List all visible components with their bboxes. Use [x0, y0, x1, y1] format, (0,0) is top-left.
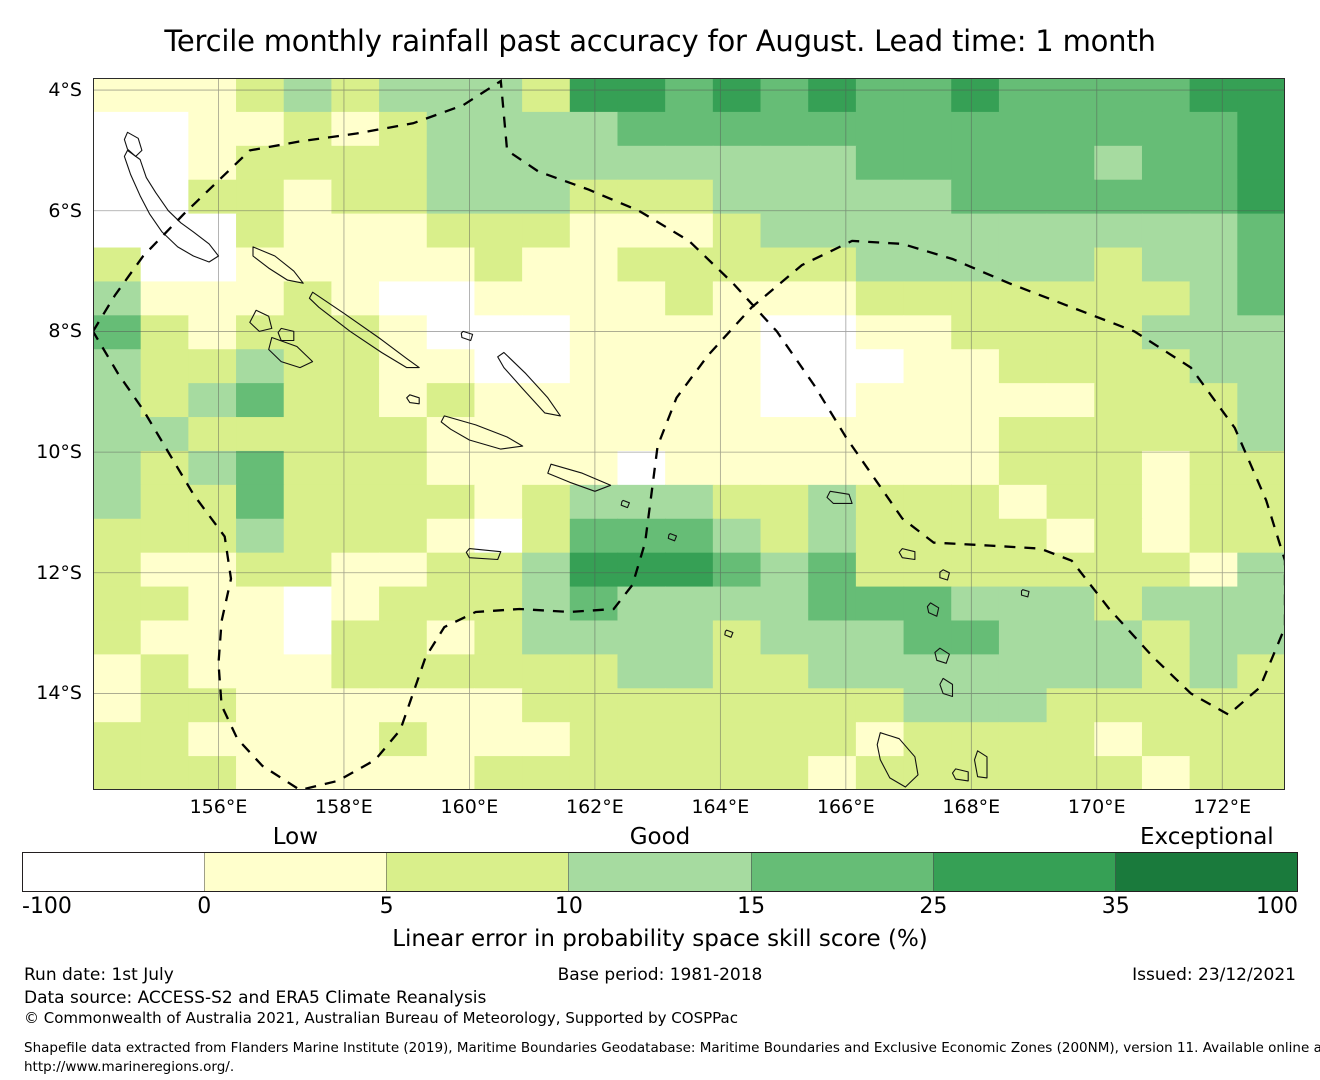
- heatmap-cell: [761, 214, 809, 249]
- x-tick-label: 168°E: [901, 796, 1041, 818]
- heatmap-cell: [665, 722, 713, 757]
- heatmap-cell: [141, 281, 189, 316]
- heatmap-cell: [284, 383, 332, 418]
- x-tick-label: 162°E: [525, 796, 665, 818]
- heatmap-cell: [904, 349, 952, 384]
- heatmap-cell: [522, 214, 570, 249]
- heatmap-cell: [1237, 112, 1285, 146]
- heatmap-cell: [617, 248, 665, 283]
- heatmap-cell: [856, 180, 904, 215]
- heatmap-cell: [761, 112, 809, 146]
- heatmap-cell: [188, 383, 236, 418]
- x-tick-label: 156°E: [148, 796, 288, 818]
- heatmap-cell: [856, 451, 904, 486]
- heatmap-cell: [665, 180, 713, 215]
- colorbar-segment: [1115, 853, 1297, 891]
- heatmap-cell: [474, 587, 522, 622]
- heatmap-cell: [1094, 112, 1142, 146]
- heatmap-cell: [1047, 620, 1095, 655]
- heatmap-cell: [236, 349, 284, 384]
- heatmap-cell: [1142, 315, 1190, 350]
- heatmap-cell: [474, 485, 522, 520]
- heatmap-cell: [1094, 349, 1142, 384]
- heatmap-cell: [236, 146, 284, 181]
- heatmap-cell: [665, 587, 713, 622]
- heatmap-cell: [284, 587, 332, 622]
- heatmap-cell: [522, 281, 570, 316]
- heatmap-cell: [1190, 587, 1238, 622]
- heatmap-cell: [427, 112, 475, 146]
- heatmap-cell: [665, 78, 713, 113]
- heatmap-cell: [331, 722, 379, 757]
- heatmap-cell: [1237, 180, 1285, 215]
- heatmap-cell: [236, 722, 284, 757]
- heatmap-cell: [617, 349, 665, 384]
- heatmap-cell: [427, 180, 475, 215]
- heatmap-cell: [808, 78, 856, 113]
- heatmap-cell: [761, 180, 809, 215]
- heatmap-cell: [1094, 654, 1142, 689]
- heatmap-cell: [474, 349, 522, 384]
- heatmap-cell: [284, 722, 332, 757]
- heatmap-cell: [284, 349, 332, 384]
- heatmap-cell: [665, 451, 713, 486]
- heatmap-cell: [570, 620, 618, 655]
- colorbar-tick-label: 15: [737, 894, 765, 919]
- heatmap-cell: [761, 417, 809, 452]
- colorbar: LowGoodExceptional -1000510152535100 Lin…: [0, 824, 1320, 954]
- heatmap-cell: [93, 315, 141, 350]
- heatmap-cell: [904, 417, 952, 452]
- heatmap-cell: [808, 519, 856, 554]
- heatmap-cell: [1190, 722, 1238, 757]
- heatmap-cell: [331, 485, 379, 520]
- heatmap-cell: [1094, 383, 1142, 418]
- heatmap-cell: [808, 451, 856, 486]
- heatmap-cell: [1142, 214, 1190, 249]
- heatmap-cell: [427, 78, 475, 113]
- y-tick-label: 12°S: [0, 562, 82, 584]
- heatmap-cell: [331, 248, 379, 283]
- heatmap-cell: [570, 78, 618, 113]
- heatmap-cell: [1047, 553, 1095, 588]
- heatmap-cell: [1047, 146, 1095, 181]
- heatmap-cell: [999, 756, 1047, 790]
- colorbar-segment: [568, 853, 750, 891]
- heatmap-cell: [951, 315, 999, 350]
- heatmap-cell: [379, 587, 427, 622]
- heatmap-cell: [1094, 587, 1142, 622]
- heatmap-cell: [427, 146, 475, 181]
- colorbar-gradient-strip: [22, 852, 1298, 892]
- heatmap-cell: [236, 553, 284, 588]
- heatmap-cell: [188, 349, 236, 384]
- colorbar-segment: [204, 853, 386, 891]
- colorbar-tick-label: 100: [1256, 894, 1298, 919]
- heatmap-cell: [236, 485, 284, 520]
- heatmap-cell: [904, 756, 952, 790]
- heatmap-cell: [188, 146, 236, 181]
- heatmap-cell: [999, 722, 1047, 757]
- heatmap-cell: [570, 349, 618, 384]
- heatmap-cell: [951, 654, 999, 689]
- heatmap-cell: [236, 180, 284, 215]
- heatmap-cell: [188, 587, 236, 622]
- heatmap-cell: [1142, 78, 1190, 113]
- heatmap-cell: [999, 654, 1047, 689]
- heatmap-cell: [1237, 146, 1285, 181]
- heatmap-cell: [379, 349, 427, 384]
- heatmap-cell: [951, 722, 999, 757]
- heatmap-cell: [522, 315, 570, 350]
- heatmap-cell: [284, 248, 332, 283]
- heatmap-cell: [1142, 383, 1190, 418]
- heatmap-cell: [856, 722, 904, 757]
- heatmap-cell: [808, 383, 856, 418]
- heatmap-cell: [474, 146, 522, 181]
- heatmap-cell: [570, 112, 618, 146]
- heatmap-cell: [1094, 417, 1142, 452]
- heatmap-cell: [522, 587, 570, 622]
- heatmap-cell: [1142, 587, 1190, 622]
- heatmap-cell: [188, 553, 236, 588]
- heatmap-cell: [331, 383, 379, 418]
- heatmap-cell: [856, 383, 904, 418]
- heatmap-cell: [1094, 519, 1142, 554]
- heatmap-cell: [236, 78, 284, 113]
- heatmap-cell: [236, 417, 284, 452]
- heatmap-cell: [1047, 654, 1095, 689]
- heatmap-cell: [1190, 654, 1238, 689]
- heatmap-cell: [1094, 722, 1142, 757]
- heatmap-cell: [188, 214, 236, 249]
- heatmap-cell: [522, 248, 570, 283]
- heatmap-cell: [522, 78, 570, 113]
- heatmap-cell: [284, 180, 332, 215]
- heatmap-cell: [856, 620, 904, 655]
- heatmap-cell: [1142, 248, 1190, 283]
- heatmap-cell: [999, 248, 1047, 283]
- heatmap-cell: [522, 620, 570, 655]
- colorbar-quality-labels: LowGoodExceptional: [22, 824, 1298, 852]
- heatmap-cell: [188, 315, 236, 350]
- heatmap-cell: [141, 519, 189, 554]
- heatmap-cell: [1047, 485, 1095, 520]
- heatmap-cell: [236, 214, 284, 249]
- heatmap-cell: [1047, 248, 1095, 283]
- heatmap-cell: [761, 281, 809, 316]
- heatmap-cell: [427, 620, 475, 655]
- heatmap-cell: [856, 553, 904, 588]
- heatmap-cell: [284, 417, 332, 452]
- heatmap-cell: [284, 281, 332, 316]
- heatmap-cell: [1047, 315, 1095, 350]
- heatmap-cell: [570, 654, 618, 689]
- heatmap-cell: [617, 485, 665, 520]
- heatmap-cell: [904, 587, 952, 622]
- heatmap-cell: [379, 281, 427, 316]
- x-tick-label: 164°E: [650, 796, 790, 818]
- heatmap-cell: [474, 180, 522, 215]
- heatmap-cell: [1190, 417, 1238, 452]
- heatmap-cell: [1190, 553, 1238, 588]
- heatmap-cell: [808, 180, 856, 215]
- heatmap-cell: [1237, 485, 1285, 520]
- heatmap-cell: [379, 383, 427, 418]
- heatmap-cell: [522, 519, 570, 554]
- heatmap-cell: [761, 519, 809, 554]
- heatmap-cell: [236, 587, 284, 622]
- heatmap-cell: [951, 180, 999, 215]
- heatmap-cell: [379, 78, 427, 113]
- heatmap-cell: [379, 519, 427, 554]
- heatmap-cell: [999, 214, 1047, 249]
- heatmap-cell: [665, 146, 713, 181]
- heatmap-cell: [427, 587, 475, 622]
- heatmap-cell: [999, 383, 1047, 418]
- heatmap-cell: [379, 315, 427, 350]
- heatmap-cell: [951, 383, 999, 418]
- heatmap-cell: [570, 485, 618, 520]
- heatmap-cell: [999, 451, 1047, 486]
- heatmap-cell: [665, 315, 713, 350]
- heatmap-cell: [808, 248, 856, 283]
- heatmap-cell: [93, 485, 141, 520]
- heatmap-cell: [379, 112, 427, 146]
- heatmap-cell: [284, 451, 332, 486]
- colorbar-quality-label: Good: [630, 824, 691, 850]
- heatmap-cell: [1047, 214, 1095, 249]
- heatmap-cell: [904, 315, 952, 350]
- heatmap-cell: [856, 281, 904, 316]
- heatmap-cell: [951, 146, 999, 181]
- heatmap-cell: [474, 756, 522, 790]
- colorbar-quality-label: Exceptional: [1140, 824, 1274, 850]
- heatmap-cell: [904, 383, 952, 418]
- heatmap-cell: [904, 519, 952, 554]
- heatmap-cell: [761, 756, 809, 790]
- heatmap-cell: [1237, 214, 1285, 249]
- heatmap-cell: [1142, 722, 1190, 757]
- heatmap-cell: [951, 587, 999, 622]
- heatmap-cell: [188, 451, 236, 486]
- heatmap-cell: [617, 281, 665, 316]
- heatmap-cell: [1047, 281, 1095, 316]
- heatmap-cell: [665, 383, 713, 418]
- heatmap-cell: [761, 78, 809, 113]
- heatmap-cell: [474, 315, 522, 350]
- heatmap-cell: [522, 756, 570, 790]
- heatmap-cell: [188, 78, 236, 113]
- heatmap-cell: [1094, 281, 1142, 316]
- heatmap-cell: [1237, 349, 1285, 384]
- base-period-text: Base period: 1981-2018: [24, 965, 1296, 985]
- heatmap-cell: [474, 519, 522, 554]
- heatmap-cell: [1142, 756, 1190, 790]
- heatmap-cell: [93, 248, 141, 283]
- heatmap-cell: [951, 553, 999, 588]
- heatmap-cell: [617, 383, 665, 418]
- heatmap-cell: [1190, 756, 1238, 790]
- colorbar-tick-label: 35: [1102, 894, 1130, 919]
- heatmap-cell: [808, 553, 856, 588]
- heatmap-cell: [617, 519, 665, 554]
- heatmap-cell: [951, 756, 999, 790]
- heatmap-cell: [141, 417, 189, 452]
- heatmap-cell: [665, 112, 713, 146]
- heatmap-cell: [1047, 383, 1095, 418]
- heatmap-cell: [617, 587, 665, 622]
- heatmap-cell: [427, 553, 475, 588]
- heatmap-cell: [951, 417, 999, 452]
- heatmap-cell: [999, 620, 1047, 655]
- heatmap-cell: [1237, 315, 1285, 350]
- heatmap-cell: [570, 383, 618, 418]
- heatmap-cell: [474, 451, 522, 486]
- heatmap-cell: [999, 112, 1047, 146]
- heatmap-cell: [951, 349, 999, 384]
- heatmap-cell: [1237, 654, 1285, 689]
- heatmap-cell: [427, 485, 475, 520]
- heatmap-cell: [141, 383, 189, 418]
- heatmap-cell: [904, 281, 952, 316]
- heatmap-cell: [522, 485, 570, 520]
- heatmap-cell: [331, 417, 379, 452]
- heatmap-cell: [284, 146, 332, 181]
- page-title: Tercile monthly rainfall past accuracy f…: [0, 24, 1320, 58]
- heatmap-cell: [951, 78, 999, 113]
- heatmap-cell: [904, 78, 952, 113]
- heatmap-cell: [617, 78, 665, 113]
- heatmap-cell: [1237, 451, 1285, 486]
- heatmap-cell: [188, 519, 236, 554]
- heatmap-cell: [1237, 587, 1285, 622]
- x-tick-label: 160°E: [399, 796, 539, 818]
- heatmap-cell: [761, 654, 809, 689]
- heatmap-cell: [904, 451, 952, 486]
- heatmap-cell: [617, 214, 665, 249]
- heatmap-cell: [951, 519, 999, 554]
- heatmap-cell: [236, 620, 284, 655]
- heatmap-cell: [856, 417, 904, 452]
- heatmap-cell: [188, 620, 236, 655]
- heatmap-cell: [665, 519, 713, 554]
- heatmap-cell: [188, 112, 236, 146]
- heatmap-cell: [1094, 485, 1142, 520]
- heatmap-cell: [1190, 620, 1238, 655]
- heatmap-cell: [93, 451, 141, 486]
- heatmap-cell: [1047, 417, 1095, 452]
- heatmap-cell: [665, 281, 713, 316]
- heatmap-cell: [570, 519, 618, 554]
- heatmap-cell: [808, 281, 856, 316]
- map-svg: [93, 78, 1285, 790]
- heatmap-cell: [999, 485, 1047, 520]
- heatmap-cell: [522, 112, 570, 146]
- heatmap-cell: [93, 78, 141, 113]
- heatmap-cell: [617, 756, 665, 790]
- heatmap-cell: [1047, 756, 1095, 790]
- heatmap-cell: [522, 722, 570, 757]
- heatmap-cell: [570, 248, 618, 283]
- heatmap-cell: [236, 112, 284, 146]
- heatmap-cell: [1047, 722, 1095, 757]
- heatmap-cell: [331, 654, 379, 689]
- heatmap-cell: [1142, 654, 1190, 689]
- heatmap-cell: [1094, 553, 1142, 588]
- heatmap-cell: [1142, 485, 1190, 520]
- heatmap-cell: [570, 451, 618, 486]
- heatmap-cell: [951, 620, 999, 655]
- heatmap-cell: [904, 214, 952, 249]
- heatmap-cell: [93, 519, 141, 554]
- heatmap-cell: [93, 281, 141, 316]
- heatmap-cell: [999, 519, 1047, 554]
- heatmap-cell: [1190, 485, 1238, 520]
- colorbar-tick-label: 0: [197, 894, 211, 919]
- heatmap-cell: [93, 146, 141, 181]
- heatmap-cell: [141, 180, 189, 215]
- heatmap-cell: [379, 180, 427, 215]
- heatmap-cell: [665, 214, 713, 249]
- heatmap-cell: [141, 587, 189, 622]
- heatmap-cell: [856, 146, 904, 181]
- heatmap-cell: [474, 722, 522, 757]
- heatmap-cell: [427, 349, 475, 384]
- heatmap-cell: [856, 756, 904, 790]
- map-figure: 4°S6°S8°S10°S12°S14°S 156°E158°E160°E162…: [93, 78, 1285, 790]
- heatmap-cell: [761, 587, 809, 622]
- heatmap-cell: [379, 553, 427, 588]
- heatmap-cell: [141, 78, 189, 113]
- heatmap-cell: [379, 214, 427, 249]
- colorbar-segment: [386, 853, 568, 891]
- heatmap-cell: [808, 349, 856, 384]
- heatmap-cell: [331, 146, 379, 181]
- x-tick-label: 166°E: [776, 796, 916, 818]
- map-heatmap-canvas[interactable]: [93, 78, 1285, 790]
- heatmap-cell: [1190, 78, 1238, 113]
- colorbar-segment: [751, 853, 933, 891]
- heatmap-cell: [93, 553, 141, 588]
- heatmap-cell: [617, 620, 665, 655]
- heatmap-cell: [808, 417, 856, 452]
- heatmap-cell: [808, 587, 856, 622]
- heatmap-cell: [808, 756, 856, 790]
- heatmap-cell: [93, 620, 141, 655]
- heatmap-cell: [1142, 349, 1190, 384]
- heatmap-cell: [570, 281, 618, 316]
- heatmap-cell: [617, 417, 665, 452]
- heatmap-cell: [1237, 722, 1285, 757]
- heatmap-cell: [1237, 417, 1285, 452]
- heatmap-cell: [1094, 248, 1142, 283]
- heatmap-cell: [474, 383, 522, 418]
- heatmap-cell: [856, 519, 904, 554]
- heatmap-cell: [808, 112, 856, 146]
- heatmap-cell: [761, 485, 809, 520]
- heatmap-cell: [236, 519, 284, 554]
- heatmap-cell: [522, 654, 570, 689]
- shapefile-attribution-line1: Shapefile data extracted from Flanders M…: [24, 1040, 1320, 1056]
- heatmap-cell: [999, 78, 1047, 113]
- heatmap-cell: [236, 383, 284, 418]
- heatmap-cell: [1190, 214, 1238, 249]
- heatmap-cell: [427, 451, 475, 486]
- heatmap-cell: [570, 587, 618, 622]
- heatmap-cell: [284, 553, 332, 588]
- heatmap-cell: [999, 349, 1047, 384]
